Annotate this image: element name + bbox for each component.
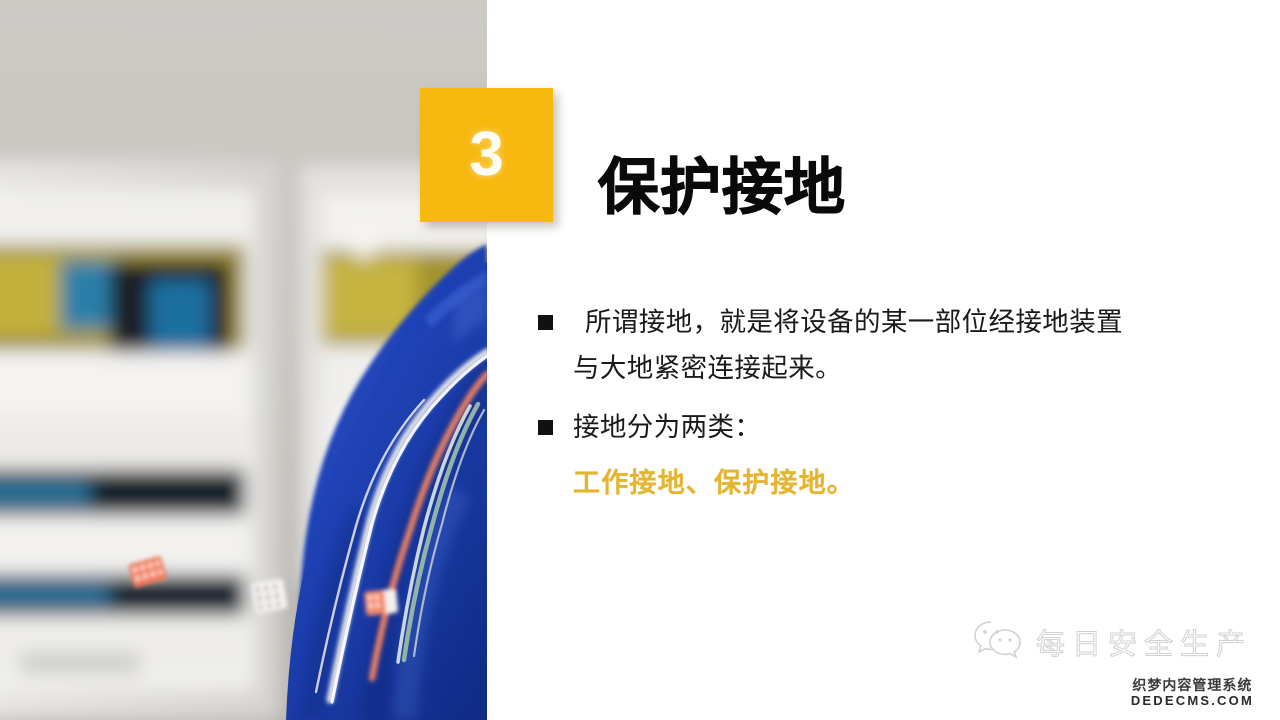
bullet-line: 与大地紧密连接起来。	[573, 346, 1198, 392]
dedecms-en-label: DEDECMS.COM	[1131, 694, 1254, 708]
bullet-text: 所谓接地，就是将设备的某一部位经接地装置 与大地紧密连接起来。	[573, 300, 1198, 391]
section-number-badge: 3	[420, 88, 553, 222]
wechat-icon	[972, 619, 1024, 664]
wechat-watermark: 每日安全生产	[972, 619, 1252, 664]
bullet-line: 所谓接地，就是将设备的某一部位经接地装置	[573, 300, 1198, 346]
wechat-account-name: 每日安全生产	[1036, 621, 1252, 663]
dedecms-watermark: 织梦内容管理系统 DEDECMS.COM	[1131, 678, 1254, 708]
bullet-item: 所谓接地，就是将设备的某一部位经接地装置 与大地紧密连接起来。	[538, 300, 1198, 391]
highlight-text: 工作接地、保护接地。	[573, 461, 1198, 500]
bullet-square-icon	[538, 315, 553, 330]
page-title: 保护接地	[598, 153, 846, 221]
spacer	[538, 391, 1198, 405]
dedecms-cn-label: 织梦内容管理系统	[1131, 678, 1254, 693]
content-body: 所谓接地，就是将设备的某一部位经接地装置 与大地紧密连接起来。 接地分为两类： …	[538, 300, 1198, 500]
slide-root: 3 保护接地 所谓接地，就是将设备的某一部位经接地装置 与大地紧密连接起来。 接…	[0, 0, 1280, 720]
hero-photo-illustration	[0, 0, 487, 720]
bullet-item: 接地分为两类：	[538, 405, 1198, 451]
bullet-line: 接地分为两类：	[573, 405, 1198, 451]
section-number: 3	[420, 88, 553, 222]
bullet-text: 接地分为两类：	[573, 405, 1198, 451]
bullet-square-icon	[538, 420, 553, 435]
hero-photo	[0, 0, 487, 720]
